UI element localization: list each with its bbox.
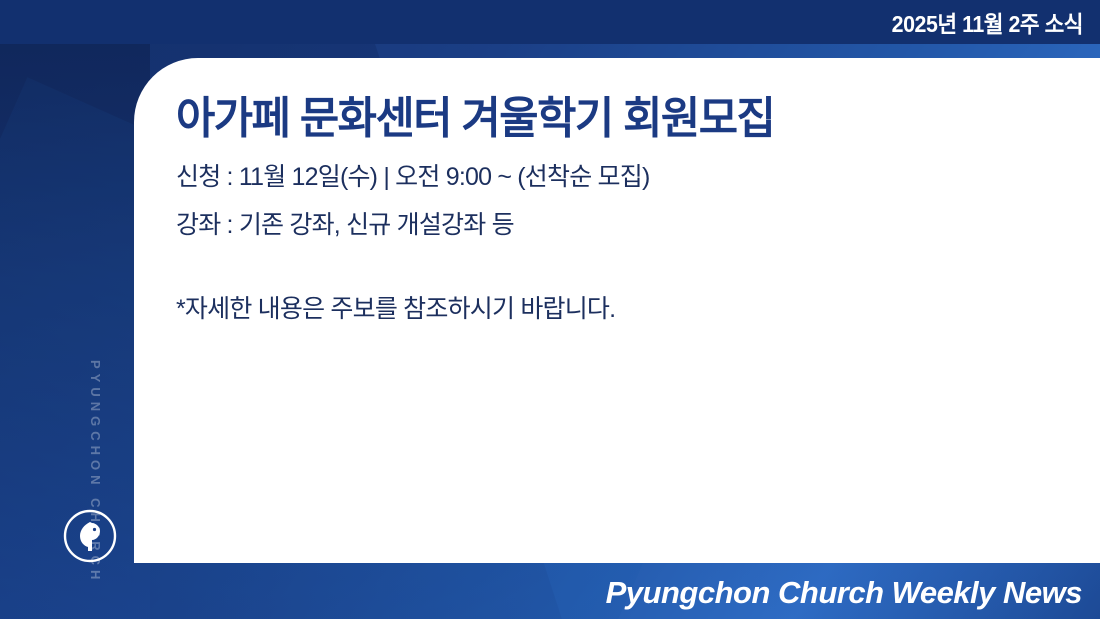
footer-brand: Pyungchon Church Weekly News (606, 575, 1082, 611)
detail-line-application: 신청 : 11월 12일(수) | 오전 9:00 ~ (선착순 모집) (176, 153, 1056, 201)
detail-line-courses: 강좌 : 기존 강좌, 신규 개설강좌 등 (176, 201, 1056, 249)
issue-date-label: 2025년 11월 2주 소식 (892, 5, 1100, 39)
footnote-text: *자세한 내용은 주보를 참조하시기 바랍니다. (176, 289, 615, 325)
content-card: 아가페 문화센터 겨울학기 회원모집 신청 : 11월 12일(수) | 오전 … (134, 58, 1100, 563)
top-bar: 2025년 11월 2주 소식 (0, 0, 1100, 44)
page-title: 아가페 문화센터 겨울학기 회원모집 (176, 82, 774, 146)
slide-canvas: 2025년 11월 2주 소식 아가페 문화센터 겨울학기 회원모집 신청 : … (0, 0, 1100, 619)
dove-church-logo-icon (63, 509, 117, 563)
detail-list: 신청 : 11월 12일(수) | 오전 9:00 ~ (선착순 모집) 강좌 … (176, 153, 1056, 249)
